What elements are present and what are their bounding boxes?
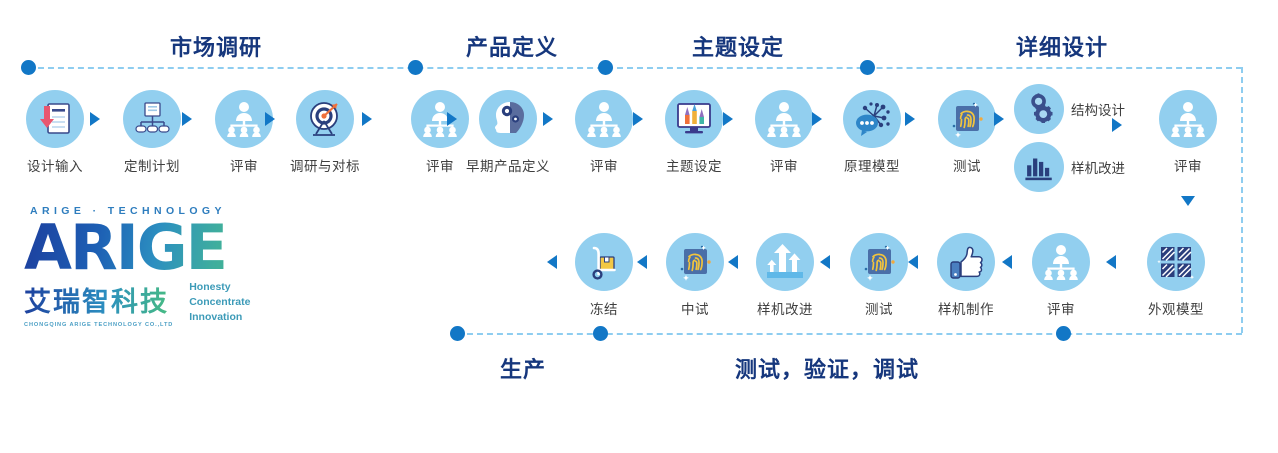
process-step[interactable]: 评审 xyxy=(556,90,652,175)
process-step[interactable]: 样机改进 xyxy=(1014,142,1125,192)
step-label: 样机制作 xyxy=(918,298,1014,318)
flow-arrow-right xyxy=(812,112,822,126)
process-step[interactable]: 测试 xyxy=(831,233,927,318)
flow-arrow-right xyxy=(723,112,733,126)
flow-arrow-left xyxy=(547,255,557,269)
step-label: 定制计划 xyxy=(104,155,200,175)
flow-arrow-right xyxy=(447,112,457,126)
process-step[interactable]: 设计输入 xyxy=(7,90,103,175)
flow-arrow-left xyxy=(1106,255,1116,269)
pattern-tiles-icon xyxy=(1147,233,1205,291)
document-download-icon xyxy=(26,90,84,148)
process-step[interactable]: 定制计划 xyxy=(104,90,200,175)
company-logo: ARIGE · TECHNOLOGY ARIGE 艾瑞智科技 CHONGQING… xyxy=(24,205,289,328)
logo-motto-line: Concentrate xyxy=(189,295,250,310)
logo-motto: Honesty Concentrate Innovation xyxy=(189,280,250,326)
flow-arrow-down xyxy=(1181,196,1195,206)
flowchart-canvas: 市场调研产品定义主题设定详细设计 设计输入 定制计划 xyxy=(0,0,1278,453)
org-plan-icon xyxy=(123,90,181,148)
step-label: 评审 xyxy=(736,155,832,175)
logo-chinese-name: 艾瑞智科技 xyxy=(24,280,173,319)
step-label: 评审 xyxy=(1140,155,1236,175)
process-step[interactable]: 冻结 xyxy=(556,233,652,318)
flow-arrow-left xyxy=(820,255,830,269)
step-label: 测试 xyxy=(831,298,927,318)
flow-arrow-right xyxy=(90,112,100,126)
timeline-node xyxy=(408,60,423,75)
flow-arrow-left xyxy=(908,255,918,269)
timeline-node xyxy=(450,326,465,341)
process-step[interactable]: 中试 xyxy=(647,233,743,318)
timeline-top xyxy=(28,67,1242,69)
timeline-bottom xyxy=(457,333,1242,335)
flow-arrow-right xyxy=(633,112,643,126)
target-arrow-icon xyxy=(296,90,354,148)
flow-arrow-right xyxy=(182,112,192,126)
thumbs-up-icon xyxy=(937,233,995,291)
step-label: 样机改进 xyxy=(1071,157,1125,177)
bar-chart-icon xyxy=(1014,142,1064,192)
phase-title: 主题设定 xyxy=(692,30,784,62)
logo-wordmark: ARIGE xyxy=(24,219,289,278)
step-label: 设计输入 xyxy=(7,155,103,175)
process-step[interactable]: 调研与对标 xyxy=(277,90,373,175)
flow-arrow-left xyxy=(1002,255,1012,269)
head-gear-icon xyxy=(479,90,537,148)
process-step[interactable]: 评审 xyxy=(1013,233,1109,318)
flow-arrow-left xyxy=(728,255,738,269)
step-label: 测试 xyxy=(919,155,1015,175)
process-step[interactable]: 评审 xyxy=(736,90,832,175)
fingerprint-icon xyxy=(666,233,724,291)
process-step[interactable]: 外观模型 xyxy=(1128,233,1224,318)
flow-arrow-right xyxy=(994,112,1004,126)
network-chat-icon xyxy=(843,90,901,148)
logo-legal-name: CHONGQING ARIGE TECHNOLOGY CO.,LTD xyxy=(24,322,173,328)
review-team-icon xyxy=(575,90,633,148)
phase-title: 产品定义 xyxy=(466,30,558,62)
hand-truck-icon xyxy=(575,233,633,291)
monitor-chart-icon xyxy=(665,90,723,148)
review-team-icon xyxy=(755,90,813,148)
step-label: 冻结 xyxy=(556,298,652,318)
fingerprint-icon xyxy=(850,233,908,291)
process-step[interactable]: 结构设计 xyxy=(1014,84,1125,134)
timeline-node xyxy=(21,60,36,75)
phase-title: 市场调研 xyxy=(170,30,262,62)
logo-motto-line: Innovation xyxy=(189,310,250,325)
review-team-icon xyxy=(1159,90,1217,148)
timeline-node xyxy=(598,60,613,75)
flow-arrow-left xyxy=(637,255,647,269)
process-step[interactable]: 样机制作 xyxy=(918,233,1014,318)
step-label: 中试 xyxy=(647,298,743,318)
step-label: 结构设计 xyxy=(1071,99,1125,119)
fingerprint-icon xyxy=(938,90,996,148)
process-step[interactable]: 主题设定 xyxy=(646,90,742,175)
gears-icon xyxy=(1014,84,1064,134)
step-label: 早期产品定义 xyxy=(460,155,556,175)
logo-motto-line: Honesty xyxy=(189,280,250,295)
step-label: 外观模型 xyxy=(1128,298,1224,318)
timeline-right xyxy=(1241,67,1243,333)
step-label: 评审 xyxy=(556,155,652,175)
process-step[interactable]: 早期产品定义 xyxy=(460,90,556,175)
phase-title: 详细设计 xyxy=(1016,30,1108,62)
flow-arrow-right xyxy=(362,112,372,126)
step-label: 调研与对标 xyxy=(277,155,373,175)
flow-arrow-right xyxy=(905,112,915,126)
phase-caption: 测试，验证，调试 xyxy=(735,352,919,384)
step-label: 样机改进 xyxy=(737,298,833,318)
flow-arrow-right xyxy=(543,112,553,126)
timeline-node xyxy=(593,326,608,341)
process-step[interactable]: 样机改进 xyxy=(737,233,833,318)
step-label: 原理模型 xyxy=(824,155,920,175)
growth-arrows-icon xyxy=(756,233,814,291)
timeline-node xyxy=(860,60,875,75)
flow-arrow-right xyxy=(265,112,275,126)
step-label: 评审 xyxy=(1013,298,1109,318)
phase-caption: 生产 xyxy=(500,352,546,384)
process-step[interactable]: 原理模型 xyxy=(824,90,920,175)
timeline-node xyxy=(1056,326,1071,341)
process-step[interactable]: 评审 xyxy=(1140,90,1236,175)
process-step[interactable]: 测试 xyxy=(919,90,1015,175)
step-label: 主题设定 xyxy=(646,155,742,175)
review-team-icon xyxy=(1032,233,1090,291)
